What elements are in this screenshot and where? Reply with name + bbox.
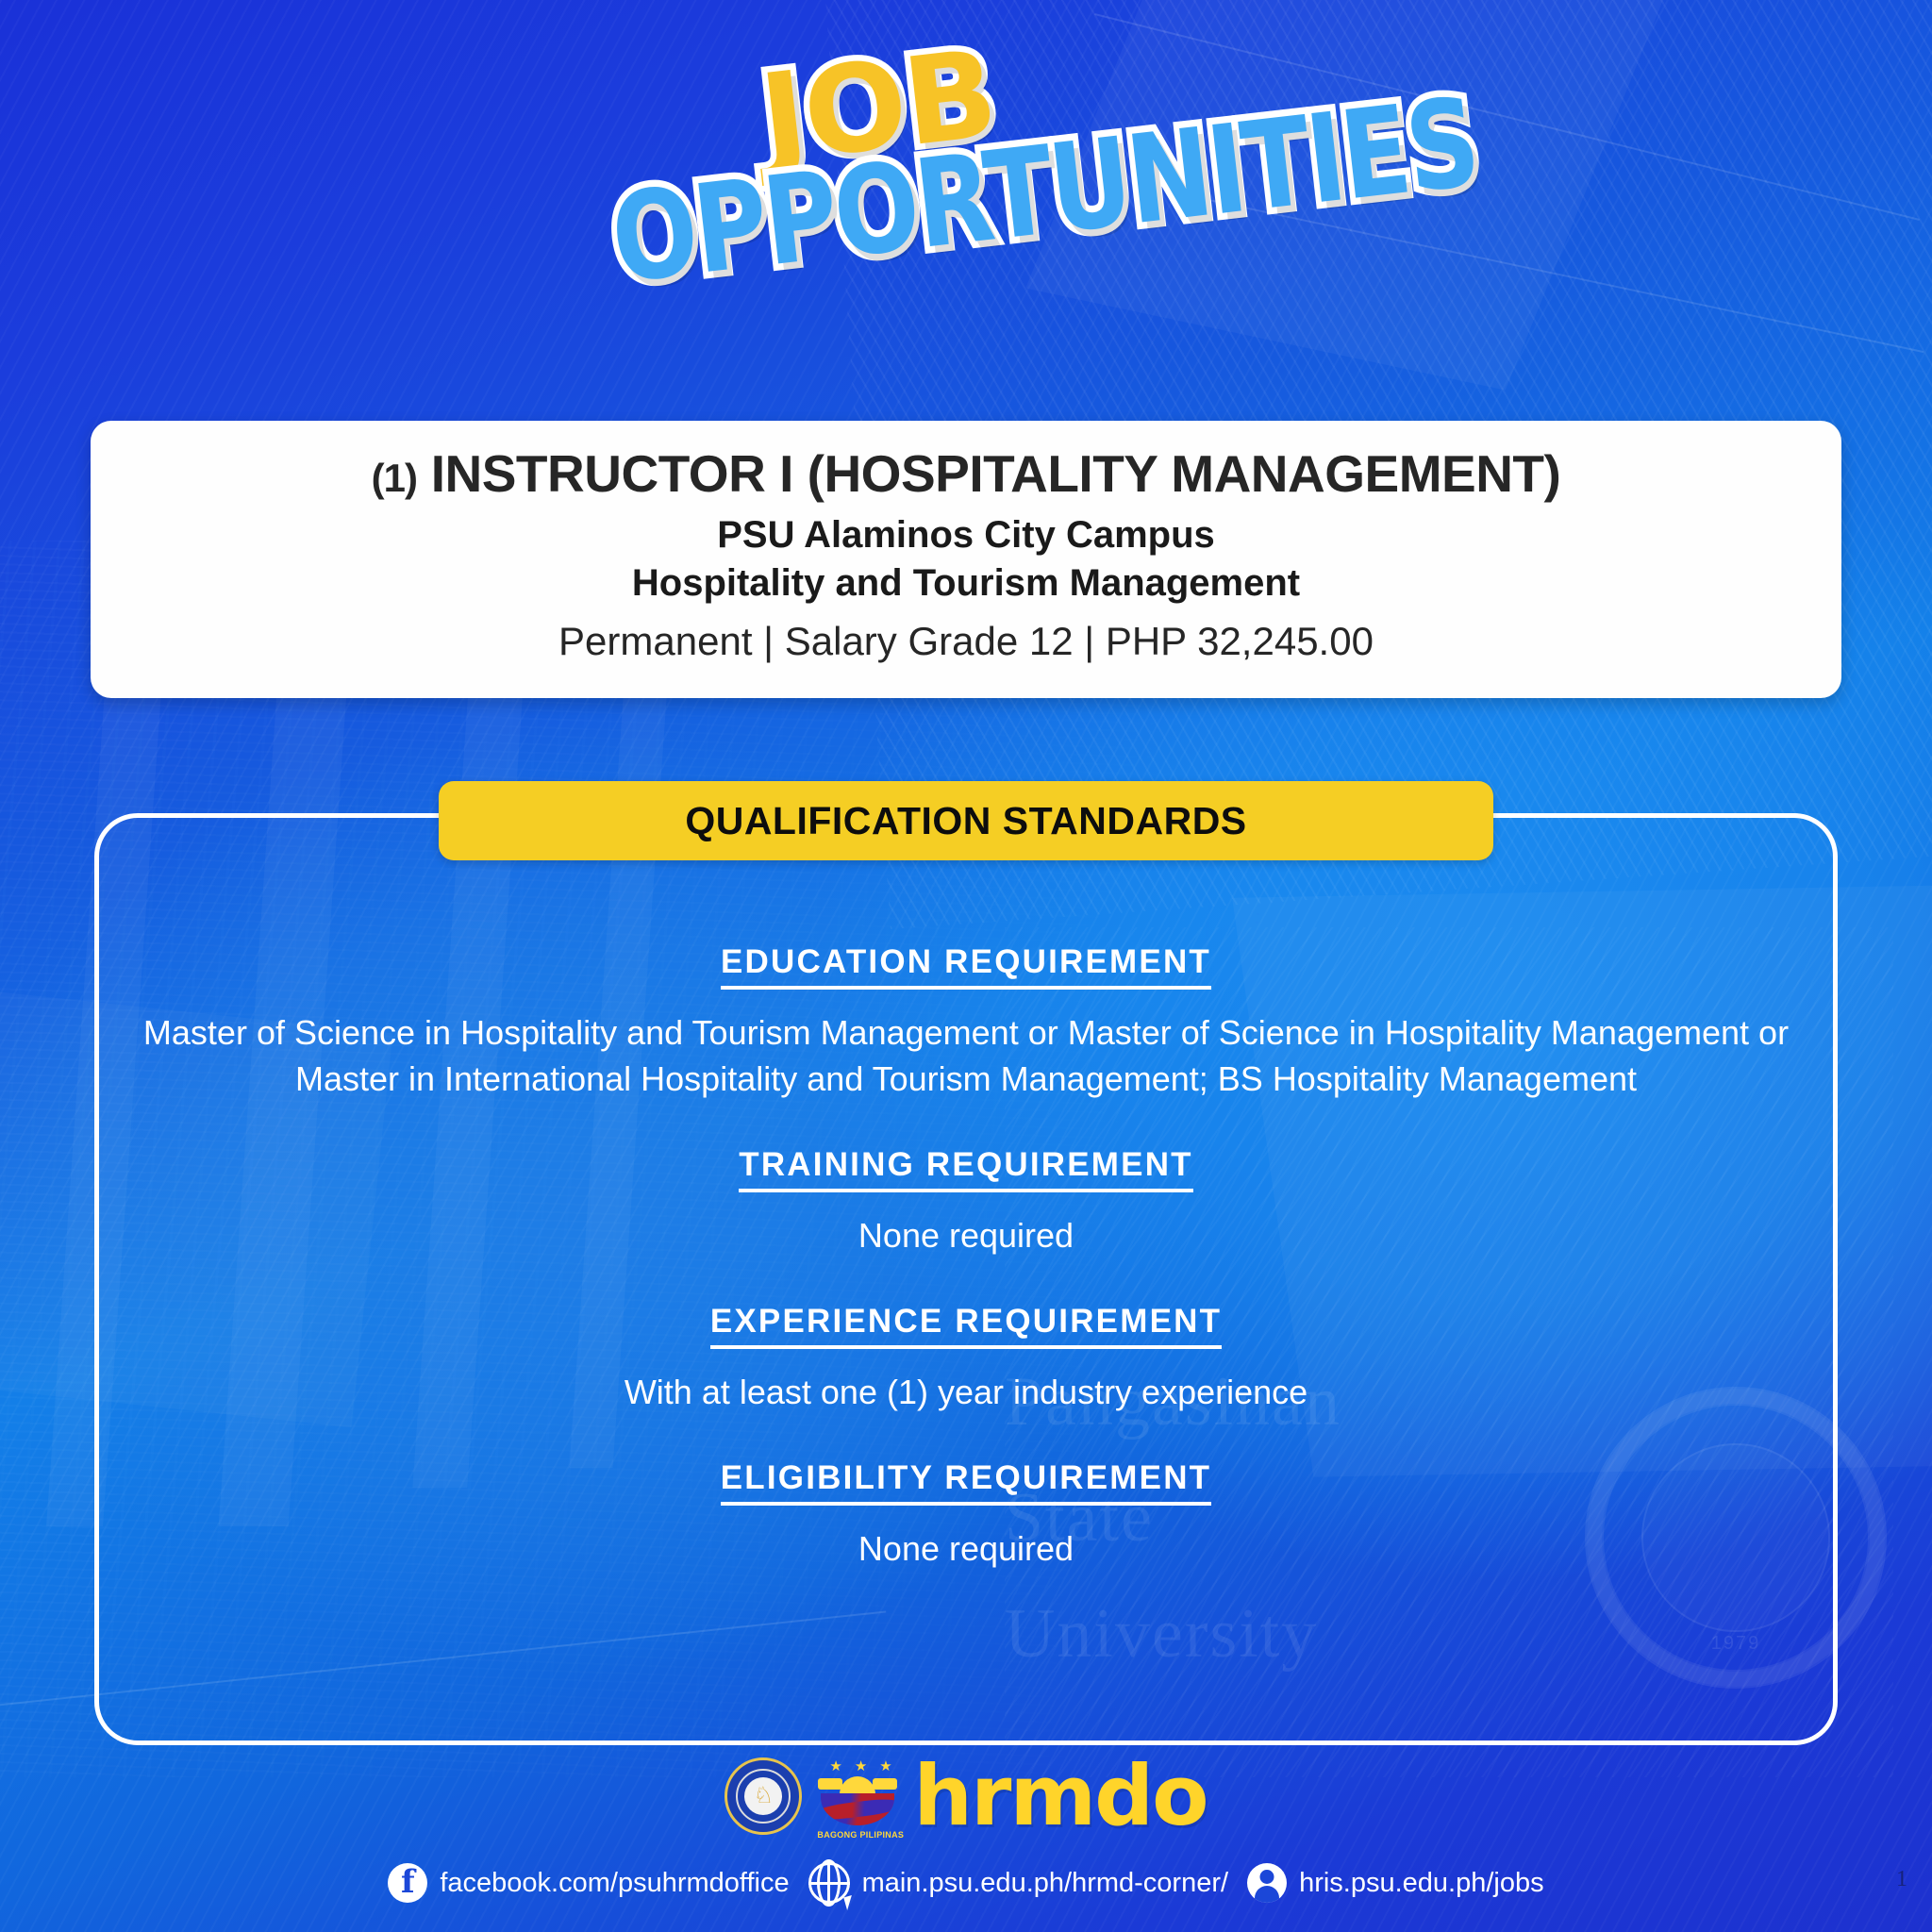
jobs-portal-url: hris.psu.edu.ph/jobs [1299, 1868, 1544, 1899]
facebook-handle: facebook.com/psuhrmdoffice [440, 1868, 789, 1899]
requirement-block-experience: EXPERIENCE REQUIREMENT With at least one… [132, 1303, 1800, 1416]
job-opportunities-logo: JOB OPPORTUNITIES [593, 21, 1310, 294]
requirement-body: With at least one (1) year industry expe… [136, 1370, 1796, 1416]
requirement-block-eligibility: ELIGIBILITY REQUIREMENT None required [132, 1459, 1800, 1573]
requirement-body: None required [136, 1213, 1796, 1259]
flag-swoosh [821, 1793, 894, 1825]
contact-website[interactable]: main.psu.edu.ph/hrmd-corner/ [808, 1862, 1228, 1904]
hrmdo-wordmark: hrmdo [913, 1758, 1207, 1833]
website-url: main.psu.edu.ph/hrmd-corner/ [862, 1868, 1228, 1899]
requirement-block-education: EDUCATION REQUIREMENT Master of Science … [132, 943, 1800, 1103]
contact-facebook[interactable]: f facebook.com/psuhrmdoffice [388, 1863, 789, 1903]
requirement-body: Master of Science in Hospitality and Tou… [136, 1010, 1796, 1103]
position-count: (1) [372, 456, 417, 500]
bagong-pilipinas-icon: ★★★ BAGONG PILIPINAS [817, 1756, 898, 1837]
contact-jobs-portal[interactable]: hris.psu.edu.ph/jobs [1247, 1863, 1544, 1903]
logo-text-opportunities: OPPORTUNITIES [606, 82, 1482, 302]
requirement-heading: EXPERIENCE REQUIREMENT [710, 1303, 1222, 1349]
page-title: INSTRUCTOR I (HOSPITALITY MANAGEMENT) [431, 444, 1561, 503]
position-department: Hospitality and Tourism Management [128, 559, 1804, 608]
requirement-heading: ELIGIBILITY REQUIREMENT [721, 1459, 1212, 1506]
psu-seal-icon: ♘ [724, 1757, 802, 1835]
requirement-body: None required [136, 1526, 1796, 1573]
position-terms: Permanent | Salary Grade 12 | PHP 32,245… [128, 617, 1804, 667]
facebook-icon: f [388, 1863, 427, 1903]
position-campus: PSU Alaminos City Campus [128, 511, 1804, 559]
seal-ring [736, 1769, 791, 1824]
qualification-standards-label: QUALIFICATION STANDARDS [685, 799, 1246, 843]
contact-bar: f facebook.com/psuhrmdoffice main.psu.ed… [0, 1857, 1932, 1909]
sun-ray-right [873, 1778, 897, 1790]
poster-header: JOB OPPORTUNITIES [0, 21, 1932, 304]
sun-ray-left [818, 1778, 842, 1790]
three-stars-icon: ★★★ [817, 1757, 898, 1774]
qualification-standards-badge: QUALIFICATION STANDARDS [439, 781, 1493, 860]
bagong-pilipinas-caption: BAGONG PILIPINAS [817, 1830, 898, 1840]
requirements-list: EDUCATION REQUIREMENT Master of Science … [94, 943, 1838, 1573]
requirement-heading: TRAINING REQUIREMENT [739, 1146, 1193, 1192]
position-title-row: (1) INSTRUCTOR I (HOSPITALITY MANAGEMENT… [128, 445, 1804, 504]
globe-cursor-icon [808, 1862, 850, 1904]
requirement-heading: EDUCATION REQUIREMENT [721, 943, 1211, 990]
page-number: 1 [1896, 1867, 1907, 1892]
requirement-block-training: TRAINING REQUIREMENT None required [132, 1146, 1800, 1259]
footer-logo-row: ♘ ★★★ BAGONG PILIPINAS hrmdo [0, 1747, 1932, 1845]
position-card: (1) INSTRUCTOR I (HOSPITALITY MANAGEMENT… [91, 421, 1841, 698]
user-account-icon [1247, 1863, 1287, 1903]
